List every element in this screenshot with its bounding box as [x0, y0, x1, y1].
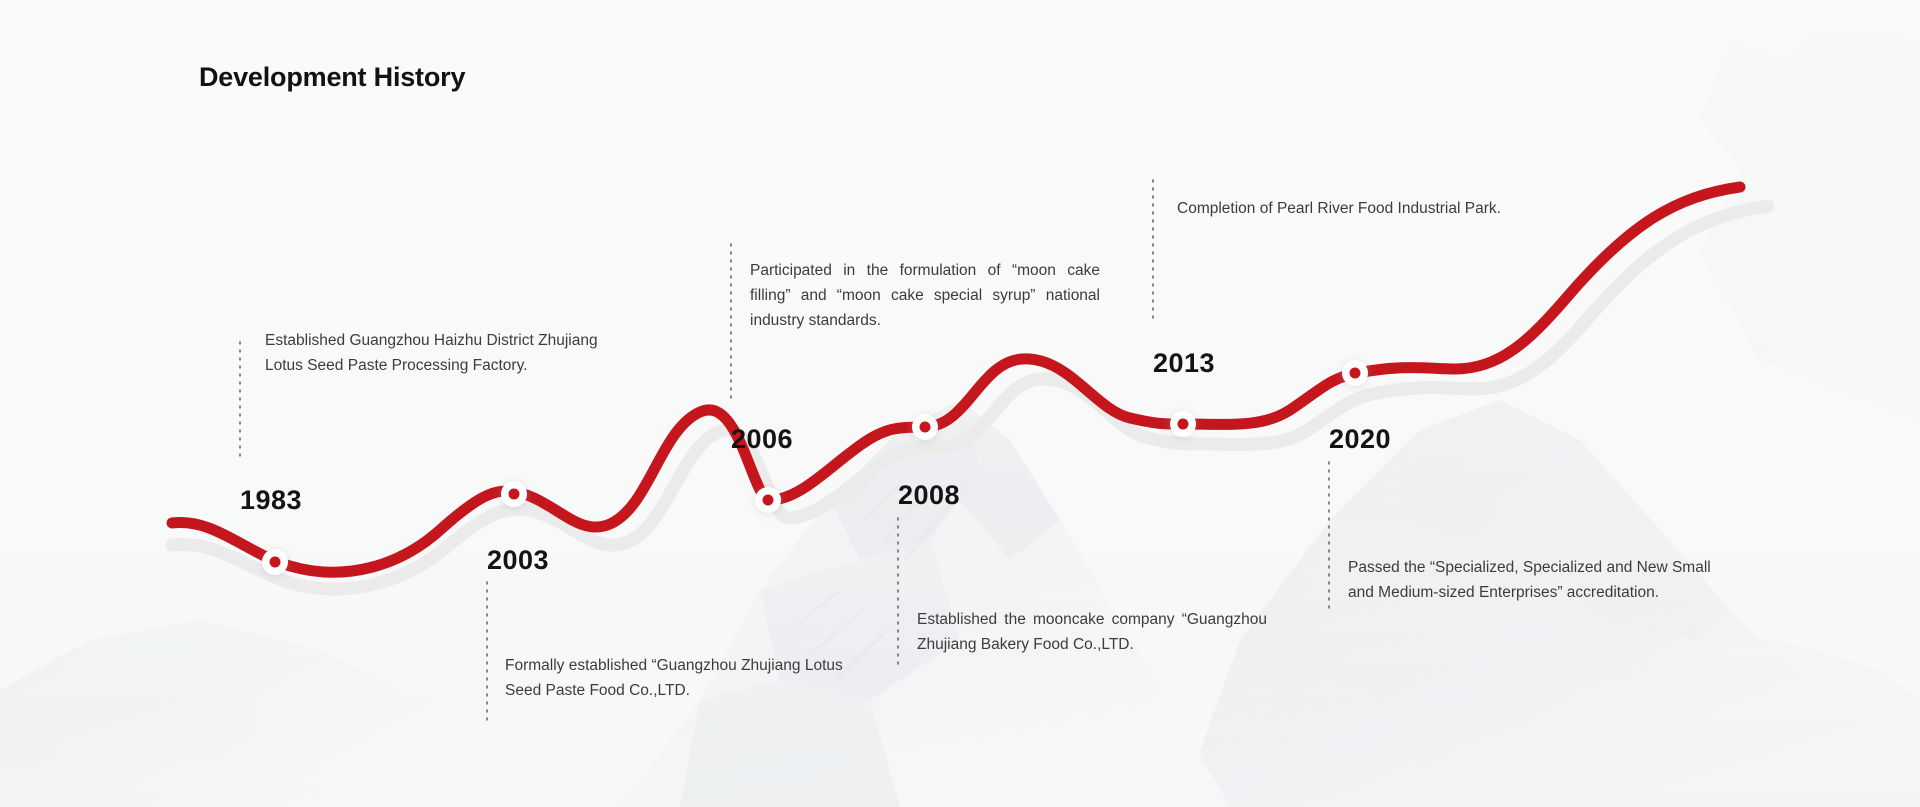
year-label-2020: 2020: [1329, 424, 1391, 455]
milestone-marker-2013[interactable]: [1170, 411, 1196, 437]
year-label-2008: 2008: [898, 480, 960, 511]
year-label-2003: 2003: [487, 545, 549, 576]
mountain-background-image: [0, 0, 1920, 807]
milestone-description-2006: Participated in the formulation of “moon…: [750, 258, 1100, 333]
milestone-marker-2003[interactable]: [501, 481, 527, 507]
milestone-marker-2020[interactable]: [1342, 360, 1368, 386]
marker-dot-2006: [763, 495, 774, 506]
timeline-graphic: [0, 0, 1920, 807]
milestone-description-2013: Completion of Pearl River Food Industria…: [1177, 196, 1597, 221]
marker-dot-2008: [920, 422, 931, 433]
milestone-description-2020: Passed the “Specialized, Specialized and…: [1348, 555, 1728, 605]
milestone-markers: [262, 360, 1368, 575]
milestone-description-2003: Formally established “Guangzhou Zhujiang…: [505, 653, 855, 703]
timeline-curve: [172, 187, 1740, 572]
marker-dot-2013: [1178, 419, 1189, 430]
timeline-canvas: Development History 1983Established Guan…: [0, 0, 1920, 807]
milestone-description-1983: Established Guangzhou Haizhu District Zh…: [265, 328, 615, 378]
milestone-marker-2008[interactable]: [912, 414, 938, 440]
year-label-1983: 1983: [240, 485, 302, 516]
page-title: Development History: [199, 62, 465, 93]
milestone-description-2008: Established the mooncake company “Guangz…: [917, 607, 1267, 657]
milestone-marker-2006[interactable]: [755, 487, 781, 513]
year-label-2006: 2006: [731, 424, 793, 455]
milestone-marker-1983[interactable]: [262, 549, 288, 575]
marker-dot-2020: [1350, 368, 1361, 379]
marker-dot-1983: [270, 557, 281, 568]
marker-dot-2003: [509, 489, 520, 500]
year-label-2013: 2013: [1153, 348, 1215, 379]
